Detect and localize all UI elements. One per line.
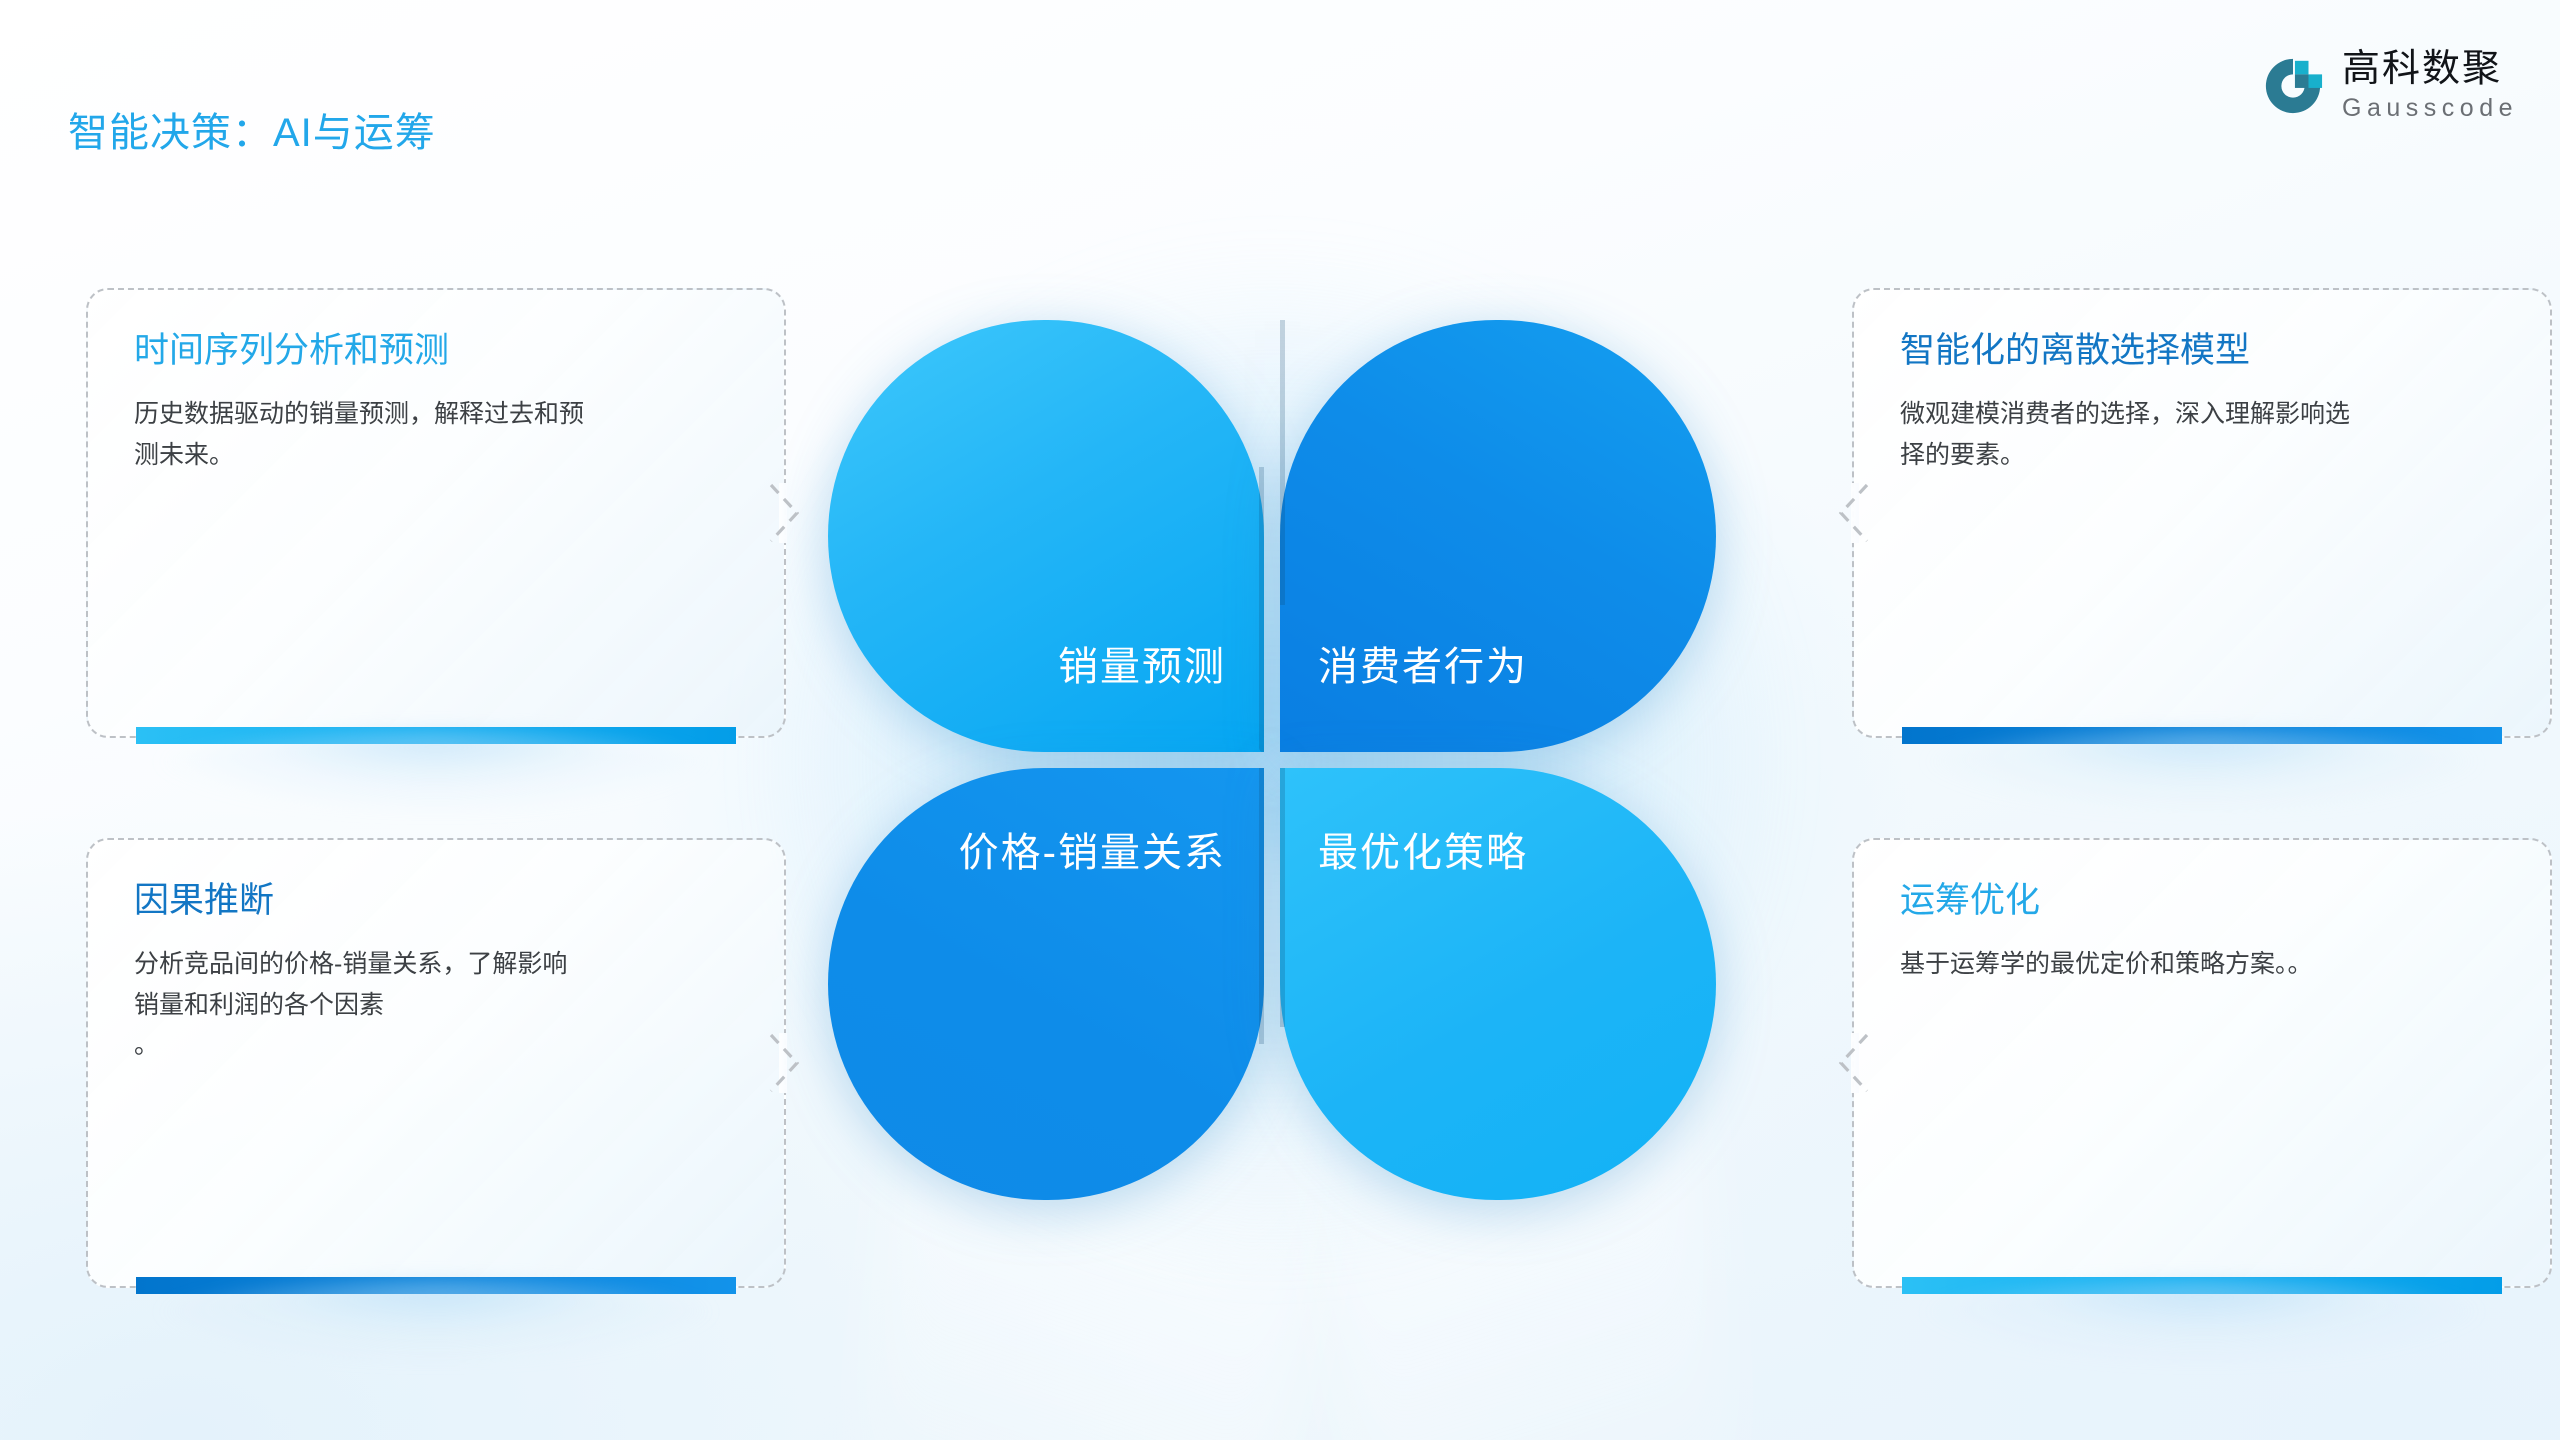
brand-logo: 高科数聚 Gausscode [2262,50,2518,121]
card-causal-inference[interactable]: 因果推断 分析竞品间的价格-销量关系，了解影响 销量和利润的各个因素 。 [86,838,786,1288]
card-title: 时间序列分析和预测 [134,330,744,372]
petal-cluster: 销量预测 消费者行为 价格-销量关系 最优化策略 [828,320,1716,1200]
card-glow [148,732,724,810]
card-discrete-choice[interactable]: 智能化的离散选择模型 微观建模消费者的选择，深入理解影响选 择的要素。 [1852,288,2552,738]
connector-arrow-left-icon [1831,477,1875,549]
card-glow [1914,732,2490,810]
card-body: 分析竞品间的价格-销量关系，了解影响 销量和利润的各个因素 。 [134,944,744,1066]
petal-label: 价格-销量关系 [828,820,1226,878]
connector-arrow-right-icon [763,1027,807,1099]
petal-label: 消费者行为 [1318,634,1716,692]
page-title: 智能决策：AI与运筹 [68,100,436,158]
card-time-series[interactable]: 时间序列分析和预测 历史数据驱动的销量预测，解释过去和预 测未来。 [86,288,786,738]
card-content: 智能化的离散选择模型 微观建模消费者的选择，深入理解影响选 择的要素。 [1900,330,2510,475]
card-body: 基于运筹学的最优定价和策略方案。。 [1900,944,2510,985]
petal-price-sales-relation[interactable]: 价格-销量关系 [828,768,1264,1200]
petal-label: 最优化策略 [1318,820,1716,878]
connector-arrow-right-icon [763,477,807,549]
card-operations-optimization[interactable]: 运筹优化 基于运筹学的最优定价和策略方案。。 [1852,838,2552,1288]
brand-name-en: Gausscode [2342,96,2518,121]
petal-consumer-behavior[interactable]: 消费者行为 [1280,320,1716,752]
card-title: 因果推断 [134,880,744,922]
slide-canvas: 智能决策：AI与运筹 高科数聚 Gausscode 销量预测 消费者行为 价格-… [0,0,2560,1440]
card-glow [148,1282,724,1360]
connector-arrow-left-icon [1831,1027,1875,1099]
card-body: 微观建模消费者的选择，深入理解影响选 择的要素。 [1900,394,2510,475]
petal-optimal-strategy[interactable]: 最优化策略 [1280,768,1716,1200]
brand-name-cn: 高科数聚 [2342,50,2518,88]
card-title: 运筹优化 [1900,880,2510,922]
petal-label: 销量预测 [828,634,1226,692]
gausscode-logo-icon [2262,55,2324,117]
card-body: 历史数据驱动的销量预测，解释过去和预 测未来。 [134,394,744,475]
petal-sales-forecast[interactable]: 销量预测 [828,320,1264,752]
card-glow [1914,1282,2490,1360]
brand-wordmark: 高科数聚 Gausscode [2342,50,2518,121]
card-content: 运筹优化 基于运筹学的最优定价和策略方案。。 [1900,880,2510,985]
card-content: 因果推断 分析竞品间的价格-销量关系，了解影响 销量和利润的各个因素 。 [134,880,744,1066]
card-content: 时间序列分析和预测 历史数据驱动的销量预测，解释过去和预 测未来。 [134,330,744,475]
card-title: 智能化的离散选择模型 [1900,330,2510,372]
